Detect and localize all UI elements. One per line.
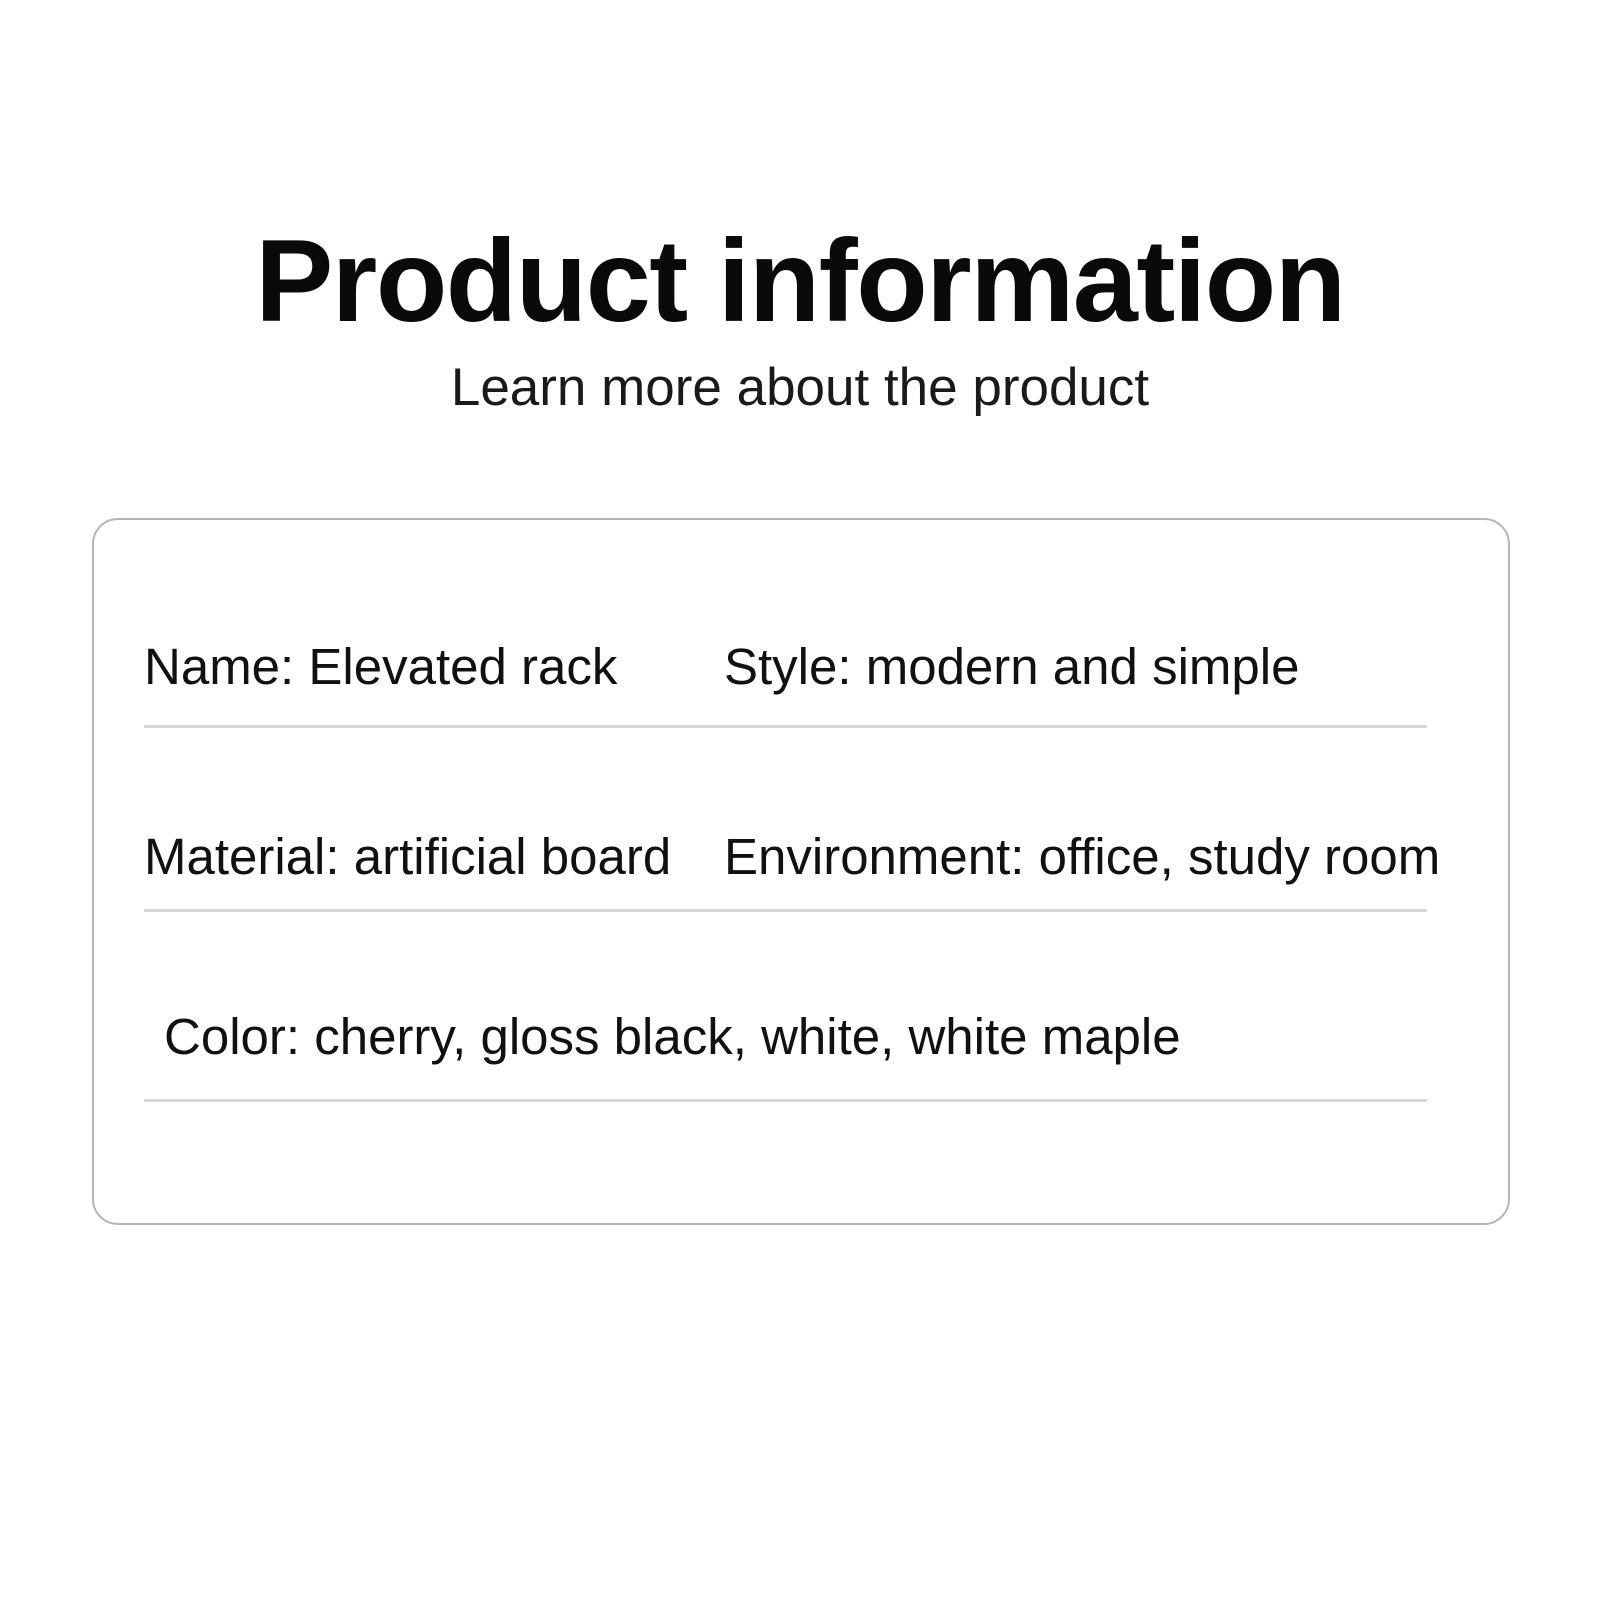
spec-style: Style: modern and simple bbox=[724, 637, 1299, 697]
page-header: Product information Learn more about the… bbox=[0, 222, 1600, 414]
spec-row-cells: Color: cherry, gloss black, white, white… bbox=[144, 1007, 1427, 1067]
spec-color: Color: cherry, gloss black, white, white… bbox=[144, 1007, 1181, 1067]
page-subtitle: Learn more about the product bbox=[0, 361, 1600, 414]
spec-environment: Environment: office, study room bbox=[724, 827, 1440, 887]
spec-row-cells: Name: Elevated rack Style: modern and si… bbox=[144, 637, 1427, 697]
spec-row: Name: Elevated rack Style: modern and si… bbox=[144, 637, 1427, 736]
spec-name: Name: Elevated rack bbox=[144, 637, 724, 697]
spec-list: Name: Elevated rack Style: modern and si… bbox=[94, 520, 1508, 1223]
spec-row-cells: Material: artificial board Environment: … bbox=[144, 827, 1427, 887]
spec-divider bbox=[144, 1099, 1427, 1102]
product-information-page: Product information Learn more about the… bbox=[0, 0, 1600, 1600]
spec-material: Material: artificial board bbox=[144, 827, 724, 887]
spec-row: Color: cherry, gloss black, white, white… bbox=[144, 1007, 1427, 1110]
product-info-card: Name: Elevated rack Style: modern and si… bbox=[92, 518, 1510, 1225]
page-title: Product information bbox=[0, 222, 1600, 339]
spec-divider bbox=[144, 909, 1427, 912]
spec-divider bbox=[144, 725, 1427, 728]
spec-row: Material: artificial board Environment: … bbox=[144, 827, 1427, 920]
